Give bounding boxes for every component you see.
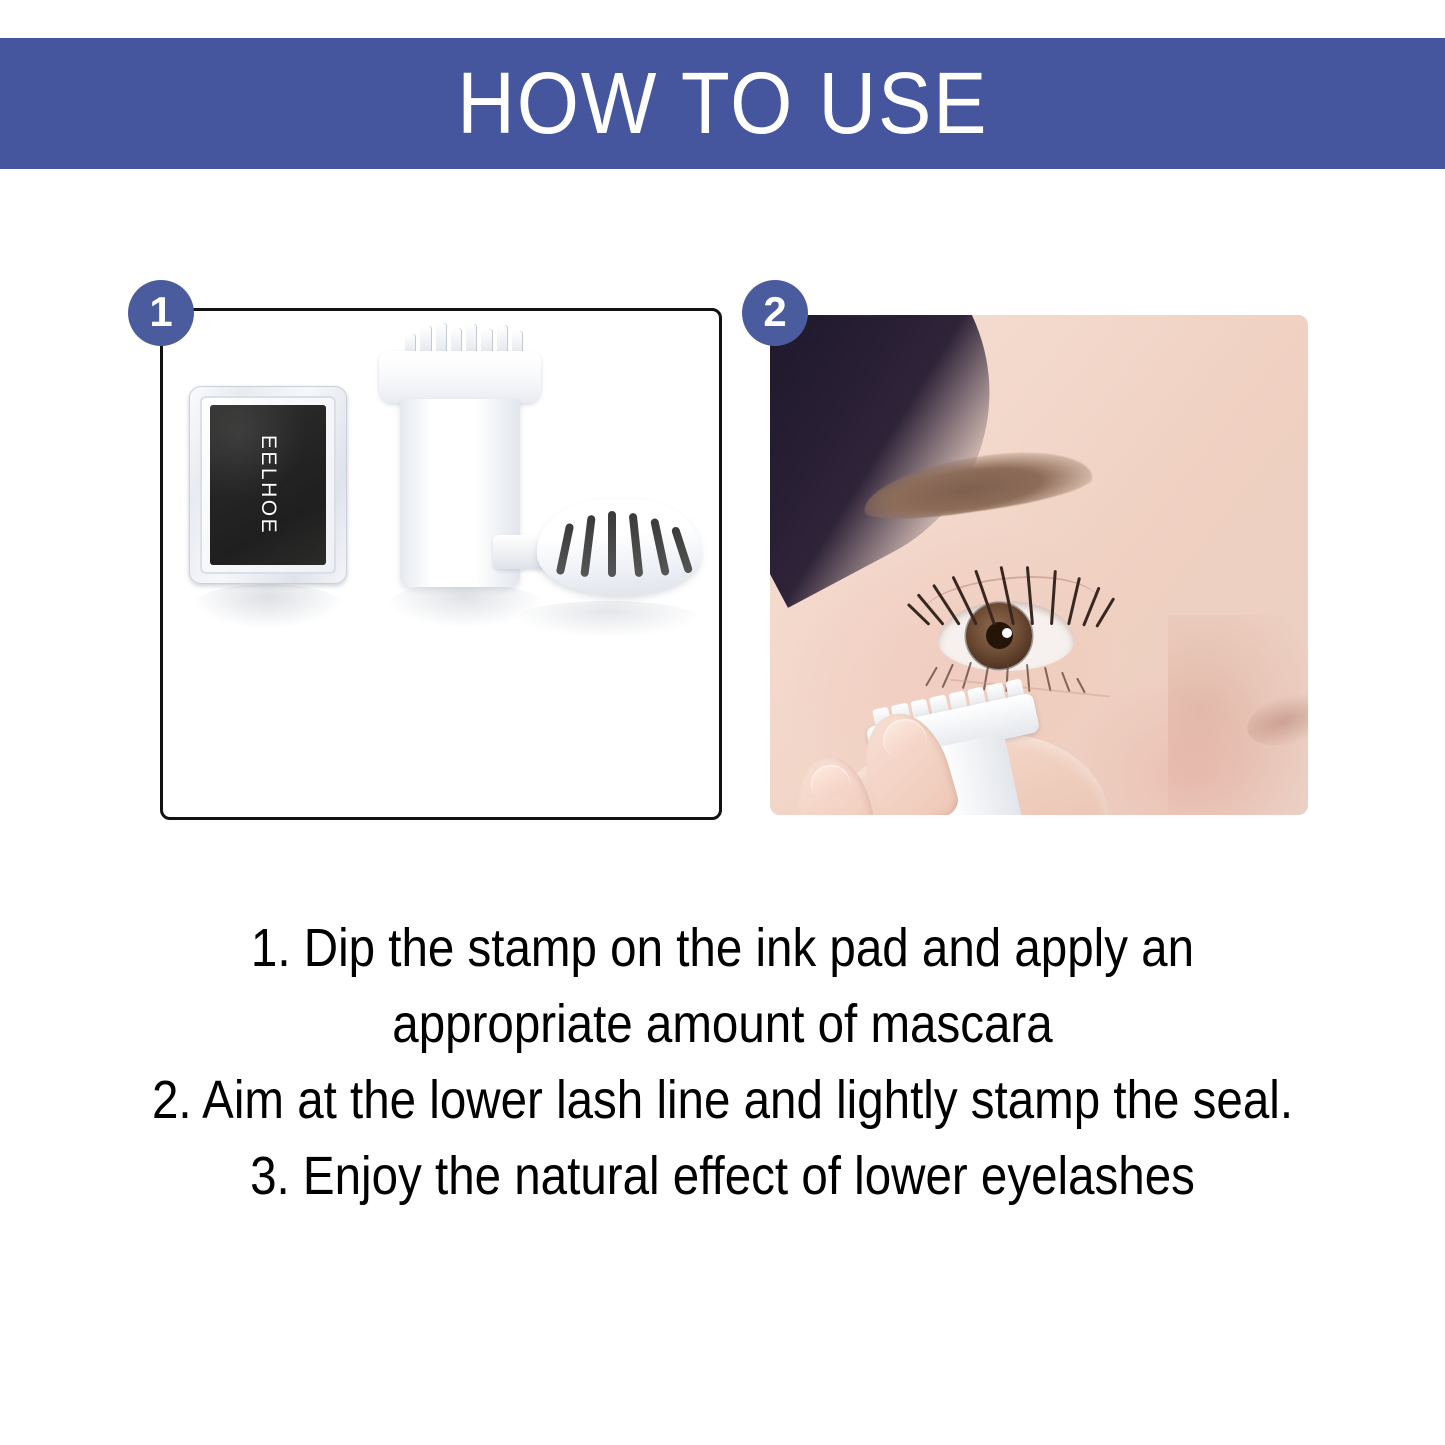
instruction-line-2: appropriate amount of mascara (87, 986, 1359, 1062)
upper-lashes (920, 555, 1110, 625)
step-2-badge: 2 (742, 280, 808, 346)
page-title: HOW TO USE (457, 60, 988, 147)
pupil (986, 622, 1013, 649)
ink-pad-inner-tray: EELHOE (200, 396, 336, 574)
step-1-badge: 1 (128, 280, 194, 346)
eye-highlight (1002, 628, 1012, 638)
product-illustration: EELHOE (163, 311, 719, 817)
lash-comb-head (493, 493, 701, 611)
model-face (770, 315, 1308, 815)
ink-pad-sponge: EELHOE (210, 405, 326, 565)
comb-curved-head (537, 499, 701, 595)
ink-pad-reflection (193, 584, 343, 628)
steps-row: EELHOE (0, 280, 1445, 840)
instruction-line-1: 1. Dip the stamp on the ink pad and appl… (87, 910, 1359, 986)
ink-pad-case: EELHOE (189, 386, 347, 584)
instructions-block: 1. Dip the stamp on the ink pad and appl… (0, 910, 1445, 1214)
instruction-line-3: 2. Aim at the lower lash line and lightl… (87, 1062, 1359, 1138)
instruction-line-4: 3. Enjoy the natural effect of lower eye… (87, 1138, 1359, 1214)
step-1-product-frame: EELHOE (160, 308, 722, 820)
step-2-usage-photo (770, 315, 1308, 815)
header-banner: HOW TO USE (0, 38, 1445, 169)
stamp-collar (379, 351, 541, 403)
brand-label: EELHOE (256, 435, 280, 535)
